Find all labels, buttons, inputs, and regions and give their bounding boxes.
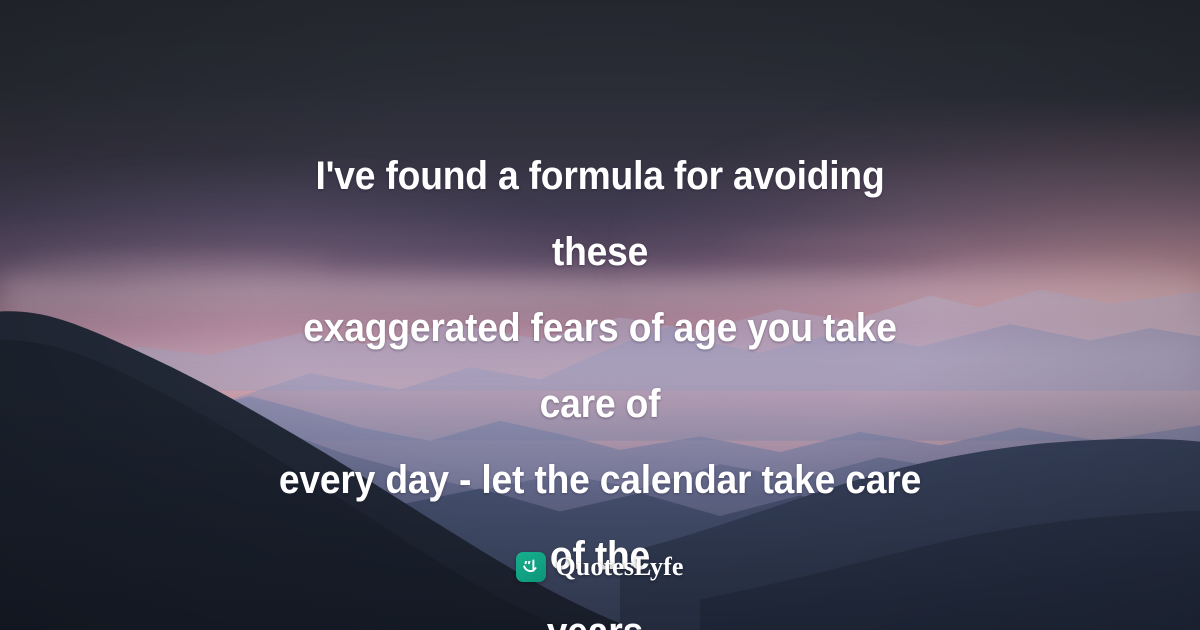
quote-line: years. bbox=[275, 594, 926, 630]
quote-smiley-icon bbox=[516, 552, 546, 582]
quote-content: I've found a formula for avoiding these … bbox=[0, 0, 1200, 630]
quote-image-card: I've found a formula for avoiding these … bbox=[0, 0, 1200, 630]
quote-line: exaggerated fears of age you take care o… bbox=[275, 290, 926, 442]
brand-logo[interactable]: QuotesLyfe bbox=[0, 552, 1200, 582]
brand-name: QuotesLyfe bbox=[555, 552, 683, 582]
quote-line: I've found a formula for avoiding these bbox=[275, 138, 926, 290]
